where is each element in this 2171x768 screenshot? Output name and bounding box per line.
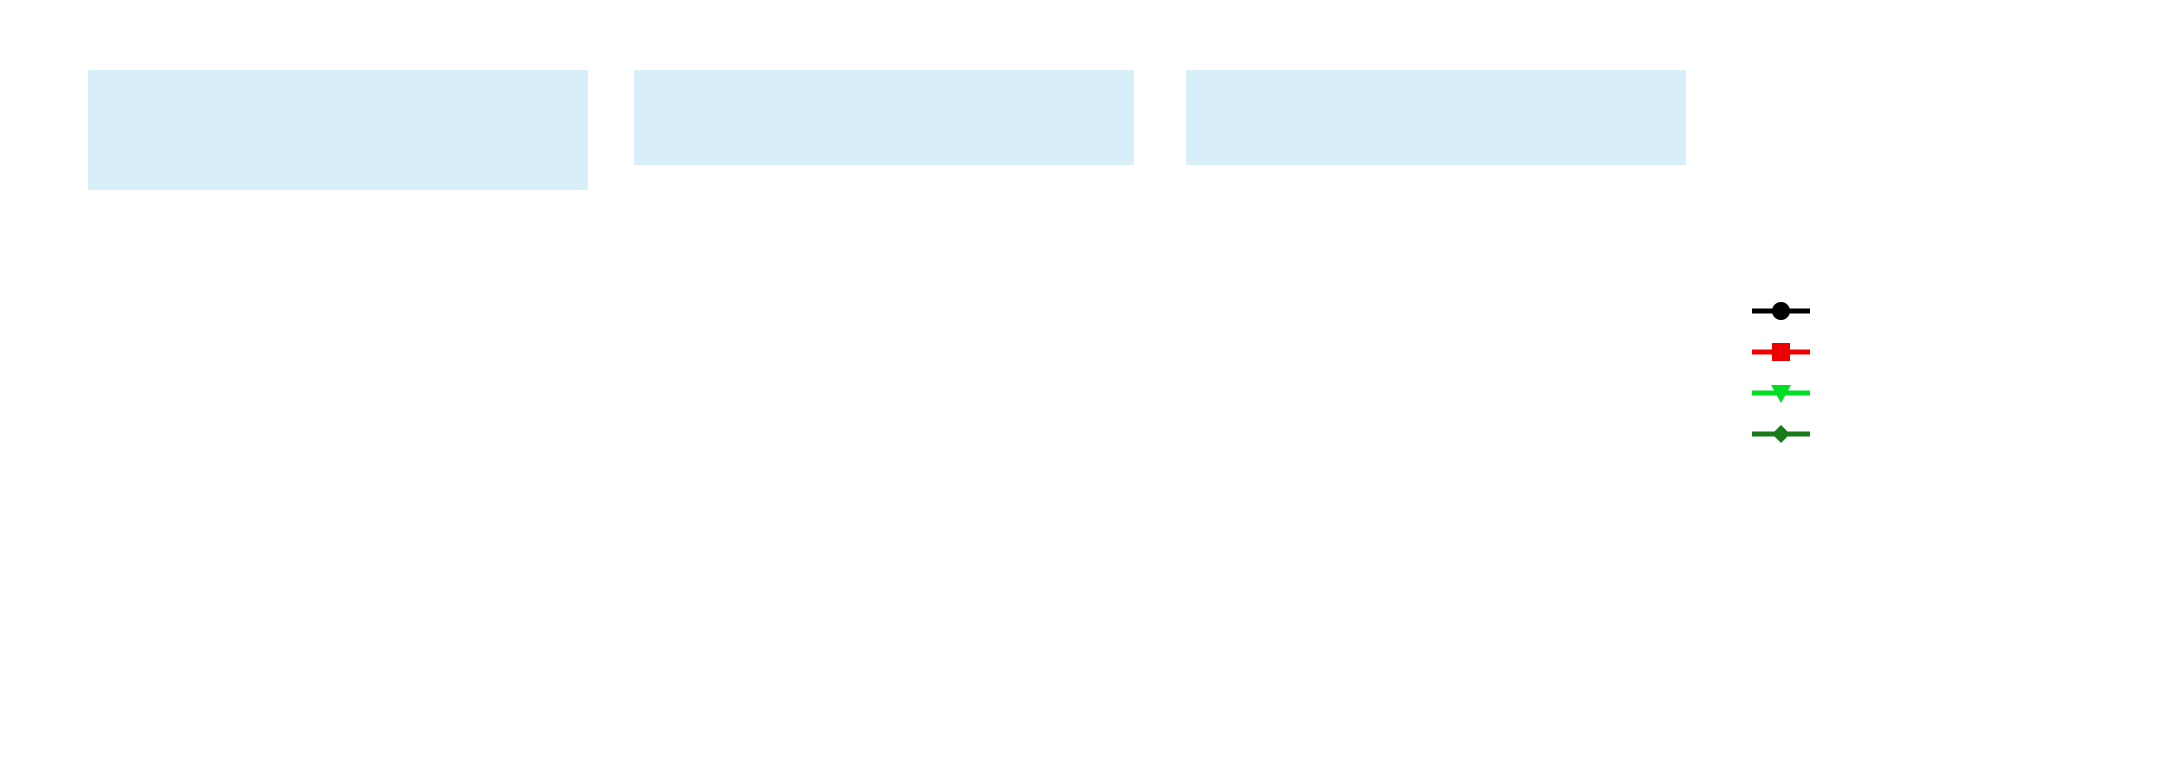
chart-legend [1752,290,2152,454]
legend-key-vehicle-control [1752,300,1810,322]
panel-title-plasma-exposure [1186,70,1686,165]
chart-body-weight [630,300,1150,630]
legend-item[interactable] [1752,372,2152,413]
panel-title-tumor [88,70,588,190]
panel-title-body-weight [634,70,1134,165]
legend-item[interactable] [1752,413,2152,454]
chart-tumor-volume [60,200,620,720]
legend-item[interactable] [1752,290,2152,331]
body-weight-svg [630,300,1150,630]
legend-item[interactable] [1752,331,2152,372]
plasma-exposure-svg [1175,245,1695,595]
tumor-volume-svg [60,200,620,720]
legend-key-brmi-15 [1752,382,1810,404]
legend-key-cisplatin [1752,341,1810,363]
legend-key-brmi-30 [1752,423,1810,445]
chart-plasma-exposure [1175,245,1695,595]
